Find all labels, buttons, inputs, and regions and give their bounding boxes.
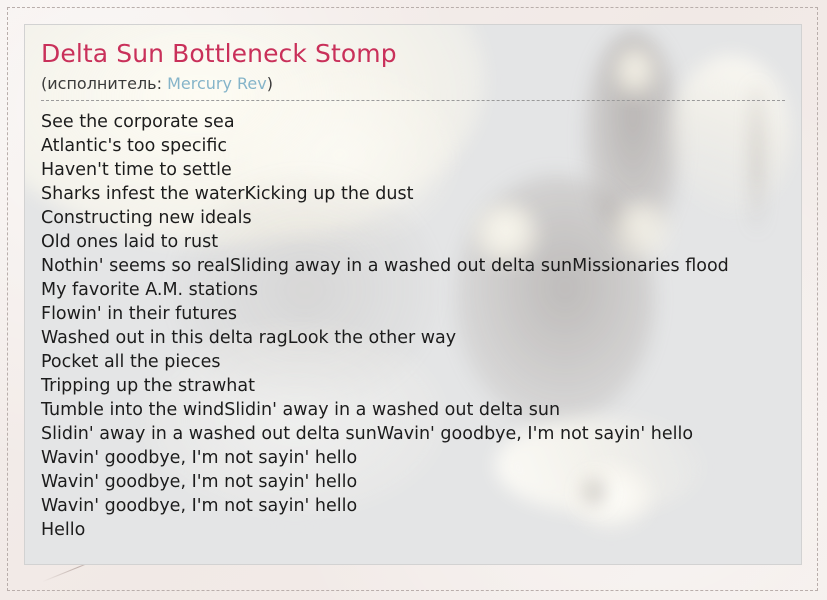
- lyrics-text: See the corporate seaAtlantic's too spec…: [41, 110, 801, 542]
- lyric-line: Wavin' goodbye, I'm not sayin' hello: [41, 446, 801, 470]
- lyric-line: Nothin' seems so realSliding away in a w…: [41, 254, 801, 278]
- song-title: Delta Sun Bottleneck Stomp: [41, 39, 801, 69]
- artist-line: (исполнитель: Mercury Rev): [41, 73, 801, 94]
- lyric-line: Flowin' in their futures: [41, 302, 801, 326]
- lyric-line: Pocket all the pieces: [41, 350, 801, 374]
- lyric-line: Washed out in this delta ragLook the oth…: [41, 326, 801, 350]
- lyric-line: Haven't time to settle: [41, 158, 801, 182]
- artist-link[interactable]: Mercury Rev: [167, 74, 267, 93]
- lyric-line: See the corporate sea: [41, 110, 801, 134]
- lyric-line: Wavin' goodbye, I'm not sayin' hello: [41, 470, 801, 494]
- lyric-line: Tripping up the strawhat: [41, 374, 801, 398]
- artist-prefix-label: (исполнитель:: [41, 74, 167, 93]
- lyric-line: Sharks infest the waterKicking up the du…: [41, 182, 801, 206]
- lyrics-card: Delta Sun Bottleneck Stomp (исполнитель:…: [24, 24, 802, 565]
- lyric-line: Hello: [41, 518, 801, 542]
- lyric-line: Atlantic's too specific: [41, 134, 801, 158]
- lyric-line: Wavin' goodbye, I'm not sayin' hello: [41, 494, 801, 518]
- lyric-line: Slidin' away in a washed out delta sunWa…: [41, 422, 801, 446]
- lyric-line: My favorite A.M. stations: [41, 278, 801, 302]
- lyric-line: Old ones laid to rust: [41, 230, 801, 254]
- lyric-line: Constructing new ideals: [41, 206, 801, 230]
- lyric-line: Tumble into the windSlidin' away in a wa…: [41, 398, 801, 422]
- artist-suffix-label: ): [267, 74, 273, 93]
- card-content: Delta Sun Bottleneck Stomp (исполнитель:…: [25, 25, 801, 542]
- title-divider: [41, 100, 785, 101]
